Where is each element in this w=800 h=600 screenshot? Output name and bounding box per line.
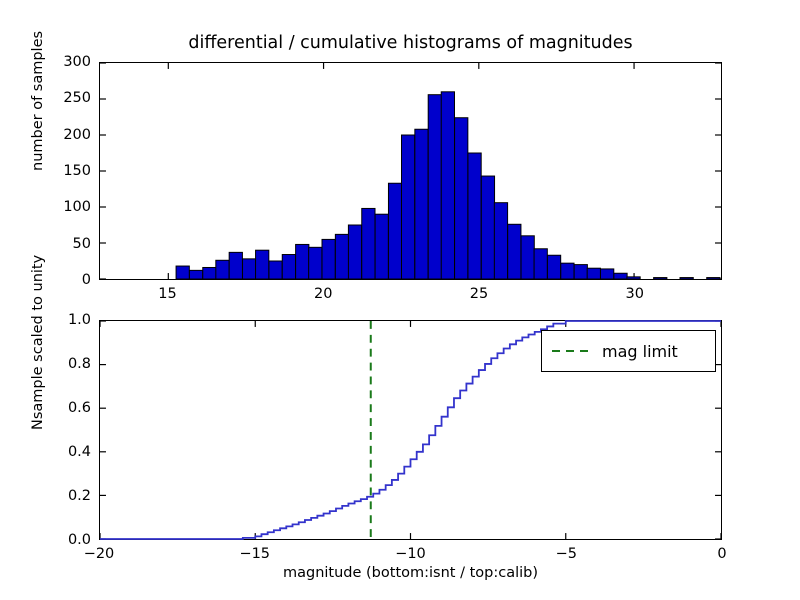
bottom-xtick-label: −5	[536, 546, 596, 562]
bottom-xtick-label: −10	[381, 546, 441, 562]
bottom-ytick-label: 1.0	[43, 312, 91, 328]
top-ytick-label: 200	[43, 127, 91, 143]
top-panel-axes	[99, 62, 722, 280]
legend: mag limit	[541, 330, 716, 372]
top-ytick-label: 250	[43, 90, 91, 106]
bottom-xtick-label: −15	[225, 546, 285, 562]
top-ytick-label: 100	[43, 199, 91, 215]
histogram-plot-area	[100, 63, 721, 279]
top-xtick-label: 30	[605, 286, 665, 302]
bottom-ytick-label: 0.2	[43, 488, 91, 504]
top-xtick-label: 15	[138, 286, 198, 302]
legend-label-mag-limit: mag limit	[602, 342, 678, 361]
figure-title: differential / cumulative histograms of …	[99, 33, 722, 53]
figure-canvas: differential / cumulative histograms of …	[0, 0, 800, 600]
top-ytick-label: 150	[43, 163, 91, 179]
bottom-ytick-label: 0.6	[43, 400, 91, 416]
mag-limit-line-icon	[550, 344, 592, 358]
figure-x-axis-label: magnitude (bottom:isnt / top:calib)	[99, 565, 722, 581]
bottom-ytick-label: 0.4	[43, 444, 91, 460]
top-ytick-label: 0	[43, 272, 91, 288]
top-xtick-label: 20	[293, 286, 353, 302]
top-ytick-label: 50	[43, 236, 91, 252]
bottom-ytick-label: 0.8	[43, 356, 91, 372]
top-xtick-label: 25	[449, 286, 509, 302]
bottom-xtick-label: 0	[692, 546, 752, 562]
top-ytick-label: 300	[43, 54, 91, 70]
bottom-xtick-label: −20	[69, 546, 129, 562]
